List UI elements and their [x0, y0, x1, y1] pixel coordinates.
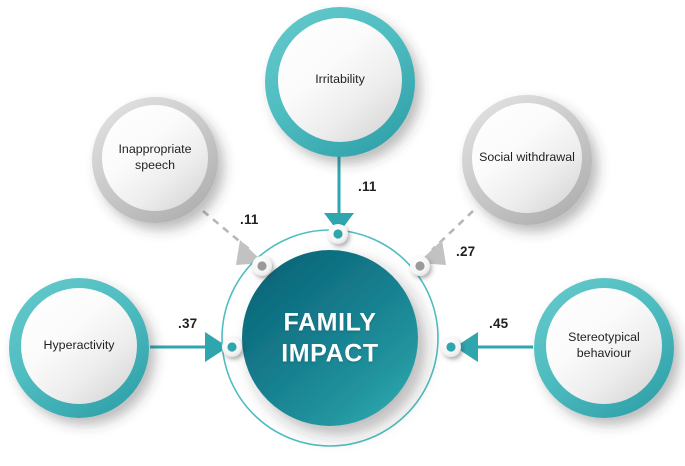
- endpoint-hyperactivity: [222, 337, 242, 357]
- endpoint-stereotypical-behaviour: [441, 337, 461, 357]
- endpoint-inappropriate-speech: [252, 256, 272, 276]
- edge-hyperactivity-to-family-impact: [150, 332, 228, 362]
- edge-label-social-withdrawal: .27: [456, 245, 475, 259]
- center-disc: [242, 250, 418, 426]
- edge-stereotypical-behaviour-to-family-impact: [455, 332, 533, 362]
- endpoint-irritability: [328, 224, 348, 244]
- endpoint-social-withdrawal: [410, 256, 430, 276]
- node-stereotypical-behaviour[interactable]: [534, 278, 674, 418]
- node-social-withdrawal[interactable]: [462, 95, 592, 225]
- edge-label-irritability: .11: [358, 180, 377, 194]
- node-inappropriate-speech[interactable]: [92, 97, 218, 223]
- edge-label-hyperactivity: .37: [178, 317, 197, 331]
- edge-irritability-to-family-impact: [324, 150, 354, 233]
- node-hyperactivity[interactable]: [9, 278, 149, 418]
- edge-label-stereotypical-behaviour: .45: [489, 317, 508, 331]
- node-irritability[interactable]: [265, 7, 415, 157]
- edge-label-inappropriate-speech: .11: [240, 213, 259, 227]
- diagram-graphics: [0, 0, 685, 466]
- diagram-canvas: FAMILY IMPACT Irritability Inappropriate…: [0, 0, 685, 466]
